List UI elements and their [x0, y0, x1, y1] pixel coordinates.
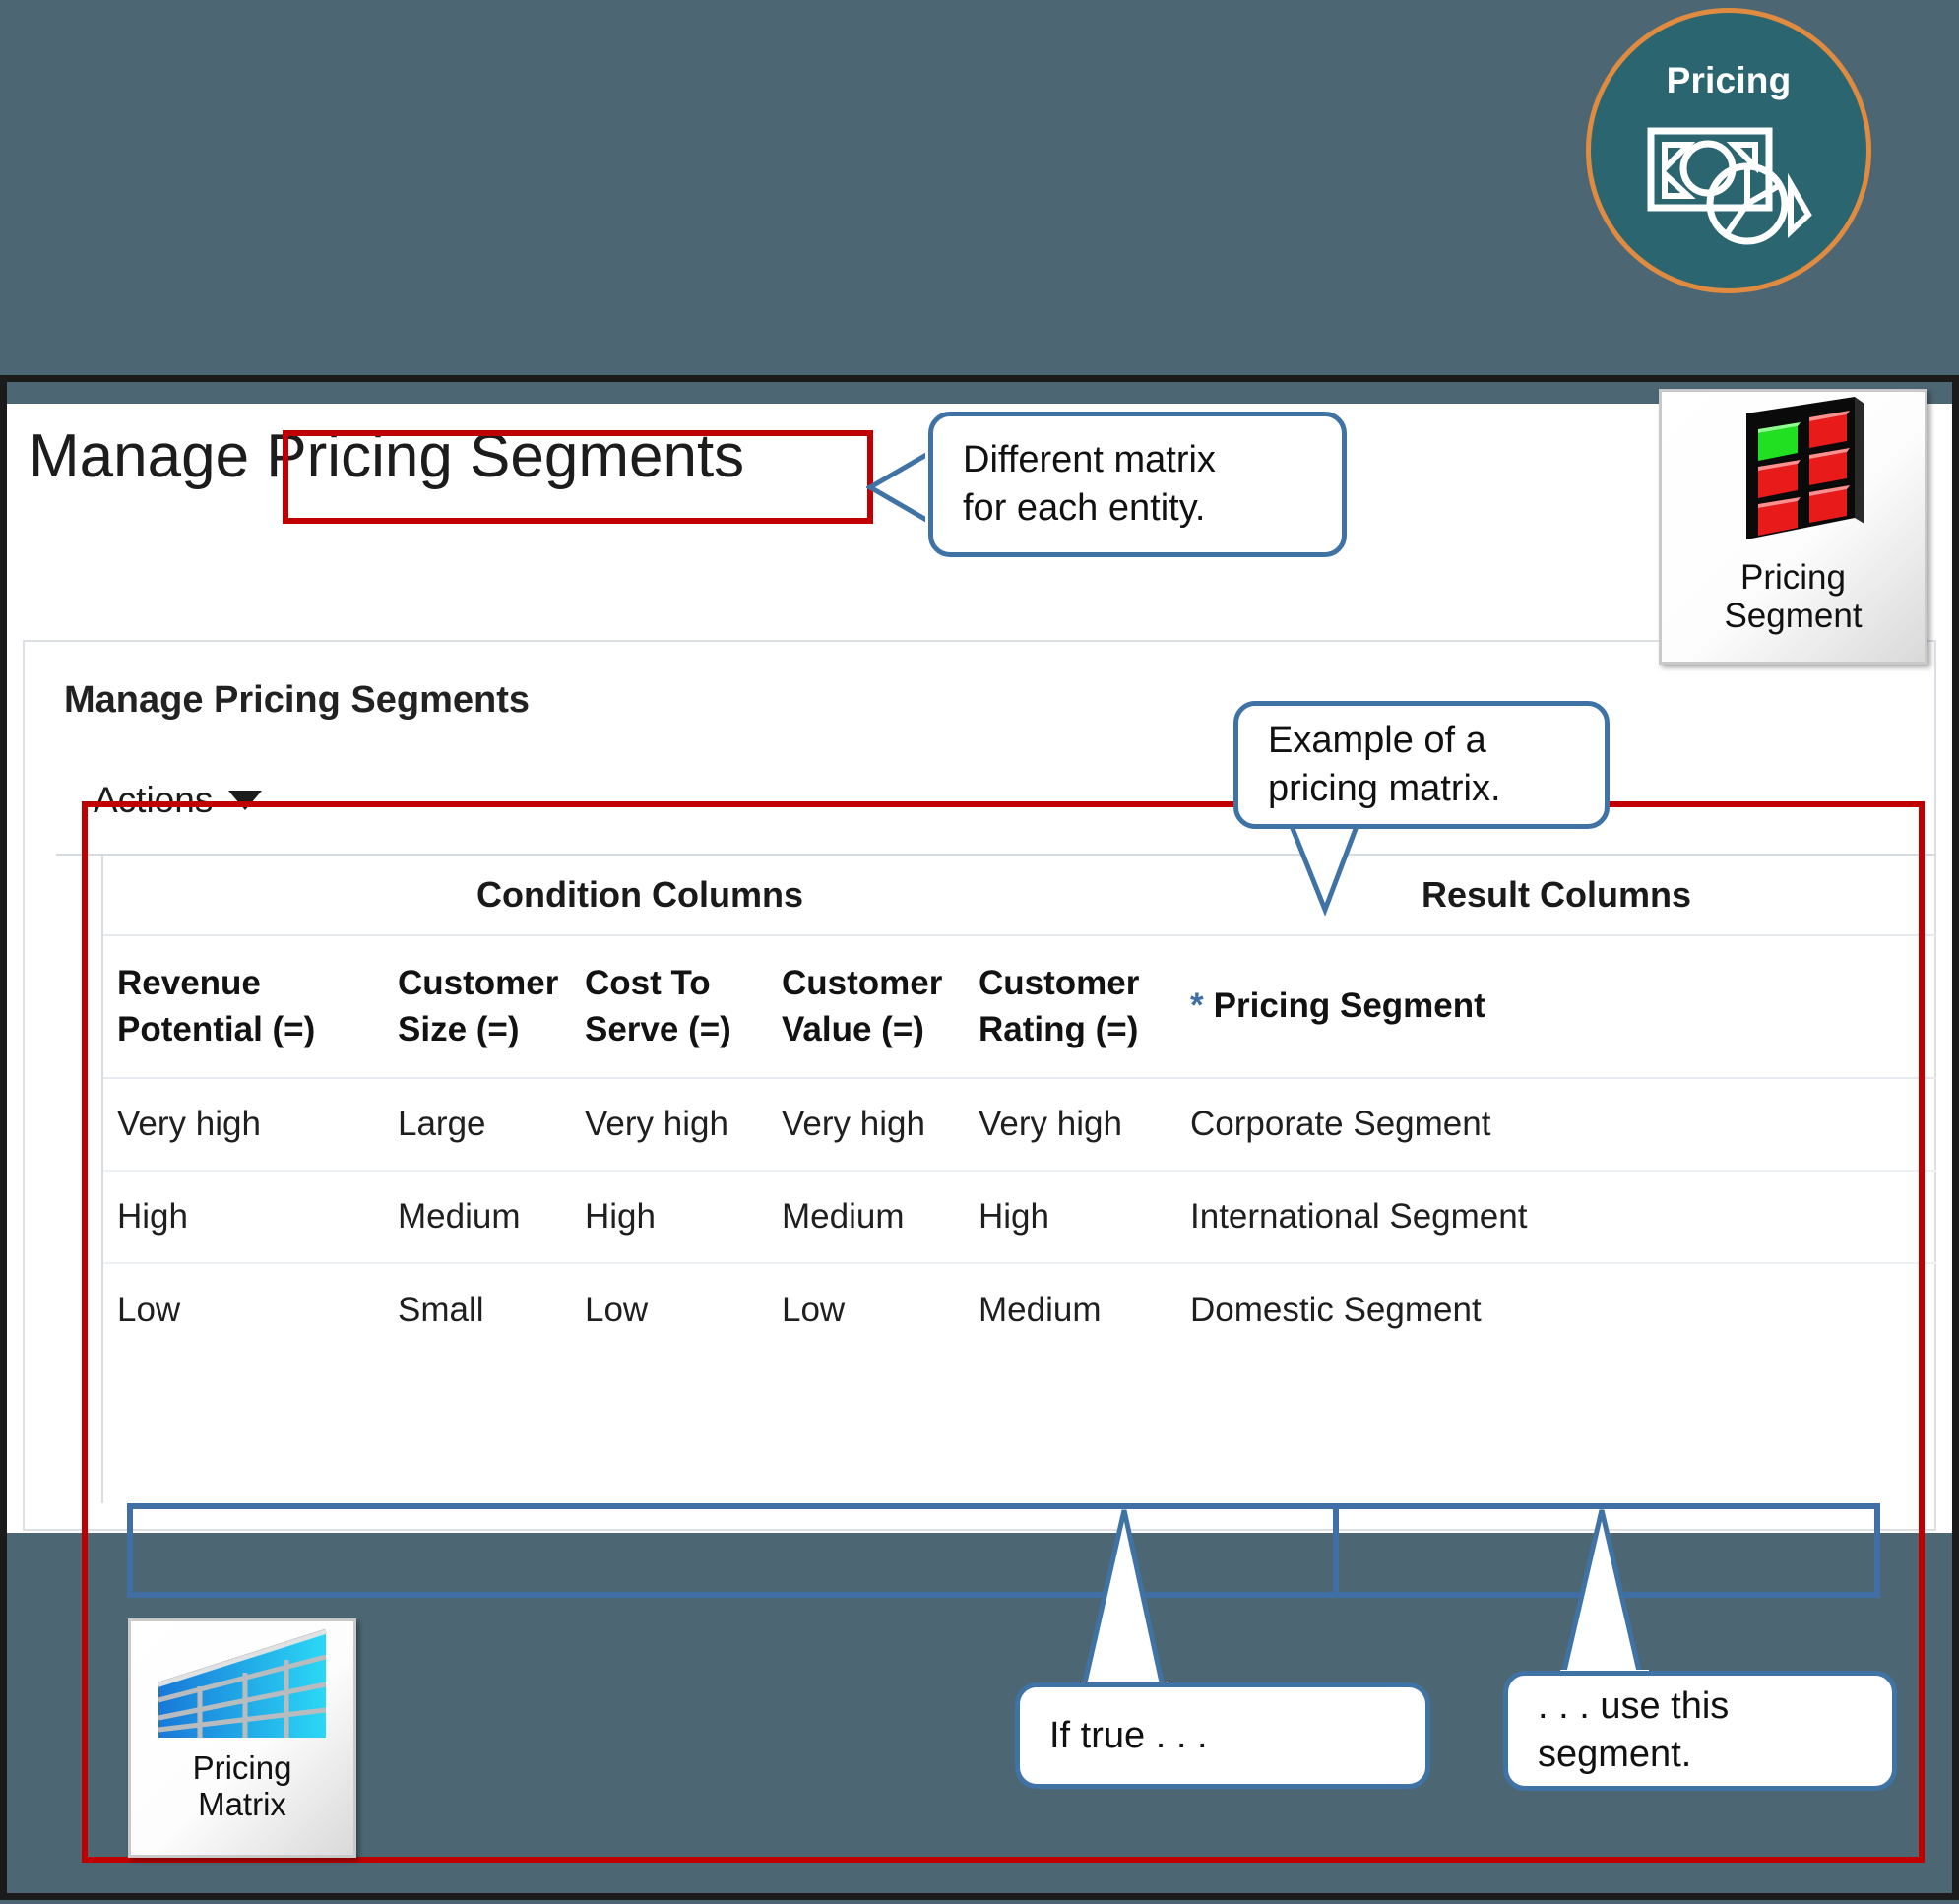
callout-if-true: If true . . . [1015, 1682, 1430, 1789]
grid-header-row: RevenuePotential (=) CustomerSize (=) Co… [103, 936, 1936, 1079]
cell-cost-to-serve: Low [571, 1264, 768, 1357]
cell-revenue-potential: Very high [103, 1079, 384, 1170]
callout-use-this-segment: . . . use this segment. [1503, 1671, 1897, 1791]
column-header-revenue-potential[interactable]: RevenuePotential (=) [103, 936, 384, 1077]
row-selector-column [56, 856, 103, 1503]
column-header-customer-rating[interactable]: CustomerRating (=) [965, 936, 1176, 1077]
header-line2: Serve (=) [585, 1010, 731, 1048]
column-header-pricing-segment[interactable]: *Pricing Segment [1176, 936, 1934, 1077]
header-line1: Cost To [585, 964, 711, 1002]
cell-customer-size: Large [384, 1079, 571, 1170]
manage-pricing-segments-card: Manage Pricing Segments Actions Conditio… [23, 640, 1936, 1531]
banknote-piechart-icon [1643, 113, 1815, 266]
table-row[interactable]: Low Small Low Low Medium Domestic Segmen… [103, 1264, 1936, 1357]
cell-customer-rating: Very high [965, 1079, 1176, 1170]
callout-example-pricing-matrix: Example of a pricing matrix. [1233, 701, 1610, 829]
header-line2: Value (=) [782, 1010, 924, 1048]
header-line2: Potential (=) [117, 1010, 315, 1048]
header-line2: Rating (=) [979, 1010, 1138, 1048]
cell-customer-rating: Medium [965, 1264, 1176, 1357]
table-row[interactable]: High Medium High Medium High Internation… [103, 1172, 1936, 1264]
screenshot-root: Pricing Manage Pricing Segments [0, 0, 1959, 1904]
callout-line2: for each entity. [963, 487, 1205, 529]
pricing-matrix-tile: PricingMatrix [128, 1618, 356, 1858]
callout-line2: segment. [1538, 1734, 1691, 1775]
chevron-down-icon [228, 791, 262, 810]
pricing-badge-label: Pricing [1667, 60, 1792, 101]
cell-customer-size: Small [384, 1264, 571, 1357]
callout-line1: . . . use this [1538, 1685, 1729, 1727]
pricing-segment-tile: PricingSegment [1659, 389, 1927, 665]
cell-customer-size: Medium [384, 1172, 571, 1262]
column-header-customer-value[interactable]: CustomerValue (=) [768, 936, 965, 1077]
condition-columns-group-label: Condition Columns [103, 856, 1176, 934]
column-header-customer-size[interactable]: CustomerSize (=) [384, 936, 571, 1077]
card-title: Manage Pricing Segments [64, 679, 530, 722]
pricing-badge: Pricing [1586, 8, 1871, 293]
column-group-band: Condition Columns Result Columns [103, 856, 1936, 936]
callout-line1: Different matrix [963, 439, 1216, 480]
page-title-prefix: Manage [29, 422, 249, 490]
column-header-cost-to-serve[interactable]: Cost ToServe (=) [571, 936, 768, 1077]
cell-pricing-segment: International Segment [1176, 1172, 1934, 1262]
callout-line2: pricing matrix. [1268, 768, 1501, 809]
grid-body: Very high Large Very high Very high Very… [103, 1079, 1936, 1357]
cell-pricing-segment: Corporate Segment [1176, 1079, 1934, 1170]
header-line1: Customer [979, 964, 1139, 1002]
cell-cost-to-serve: High [571, 1172, 768, 1262]
actions-menu[interactable]: Actions [94, 780, 262, 821]
result-columns-group-label: Result Columns [1176, 856, 1936, 934]
cell-customer-value: Very high [768, 1079, 965, 1170]
pricing-matrix-tile-label: PricingMatrix [193, 1750, 292, 1823]
header-line1: Customer [398, 964, 558, 1002]
cell-revenue-potential: High [103, 1172, 384, 1262]
required-marker: * [1190, 984, 1204, 1029]
actions-label: Actions [94, 780, 213, 821]
cell-customer-value: Medium [768, 1172, 965, 1262]
pricing-segment-tile-label: PricingSegment [1724, 558, 1862, 635]
pricing-matrix-grid: Condition Columns Result Columns Revenue… [56, 854, 1936, 1503]
cell-cost-to-serve: Very high [571, 1079, 768, 1170]
header-line1: Revenue [117, 964, 261, 1002]
callout-line1: Example of a [1268, 720, 1486, 761]
header-line1: Customer [782, 964, 942, 1002]
header-line2: Size (=) [398, 1010, 520, 1048]
callout-different-matrix: Different matrix for each entity. [928, 412, 1347, 557]
cell-customer-value: Low [768, 1264, 965, 1357]
title-annotation-box [283, 430, 873, 524]
table-row[interactable]: Very high Large Very high Very high Very… [103, 1079, 1936, 1172]
cell-revenue-potential: Low [103, 1264, 384, 1357]
matrix-grid-icon [155, 1627, 330, 1748]
cell-pricing-segment: Domestic Segment [1176, 1264, 1934, 1357]
header-line2: Pricing Segment [1214, 984, 1485, 1029]
callout-line1: If true . . . [1049, 1715, 1208, 1756]
segment-blocks-icon [1707, 392, 1879, 554]
cell-customer-rating: High [965, 1172, 1176, 1262]
